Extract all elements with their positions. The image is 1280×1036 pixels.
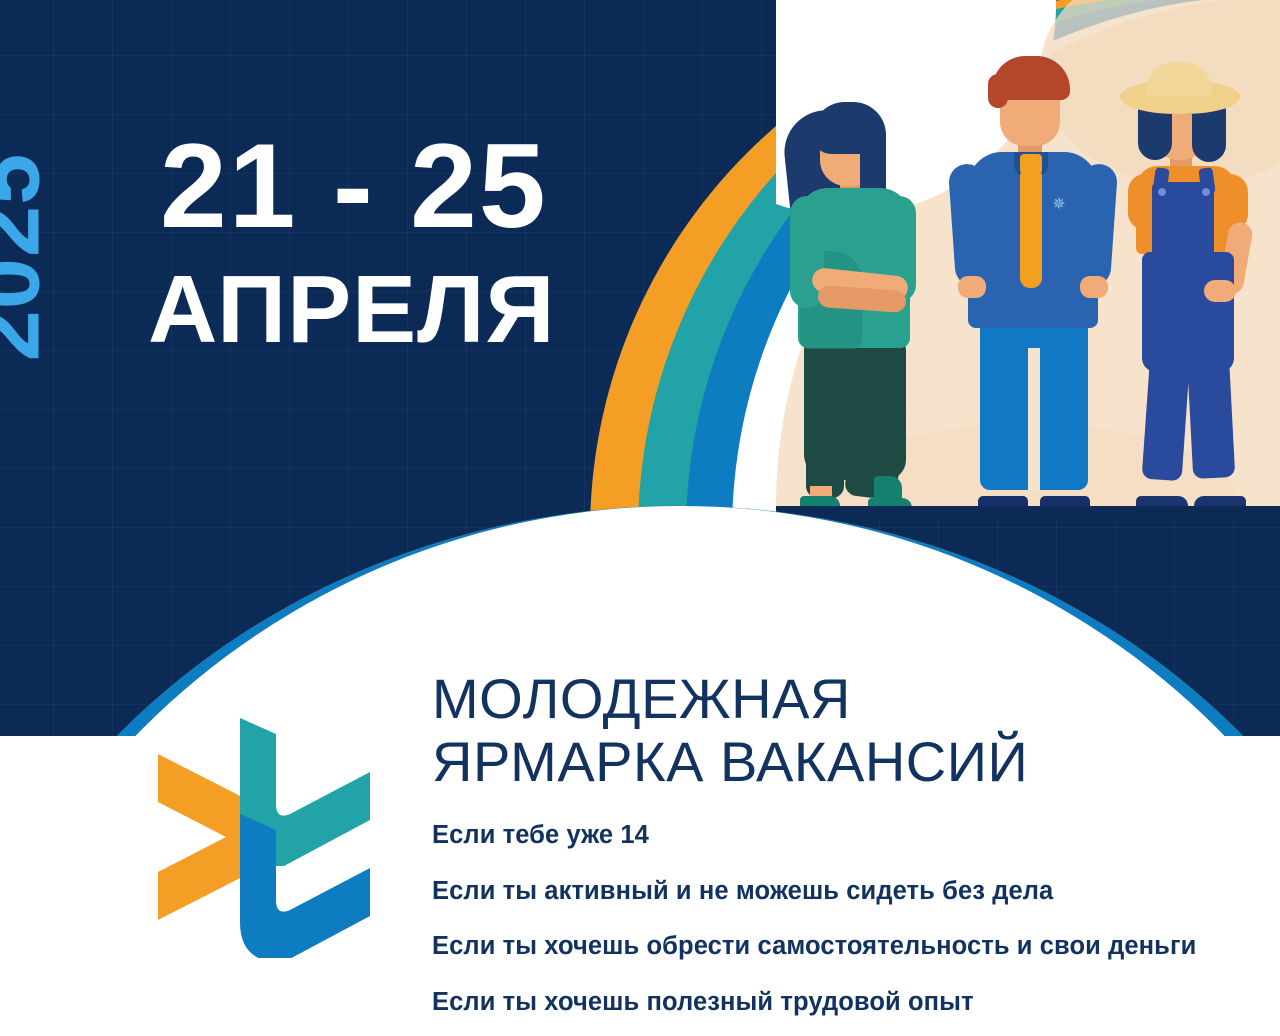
page-title: МОЛОДЕЖНАЯ ЯРМАРКА ВАКАНСИЙ	[432, 668, 1262, 793]
poster-copy: МОЛОДЕЖНАЯ ЯРМАРКА ВАКАНСИЙ Если тебе уж…	[432, 668, 1262, 1015]
list-item: Если ты хочешь полезный трудовой опыт	[432, 990, 1262, 1016]
date-range-label: 21 - 25	[160, 126, 548, 246]
figure-woman-straw-hat	[1106, 56, 1272, 514]
year-rotated-wrapper: 2025	[52, 360, 53, 361]
overalls-button-right	[1202, 188, 1210, 196]
hair-sideburn-shape	[988, 74, 1008, 108]
straw-hat-crown	[1146, 62, 1212, 96]
leg-gap-shape	[1028, 348, 1040, 490]
list-item: Если ты активный и не можешь сидеть без …	[432, 879, 1262, 905]
heel-shape	[874, 476, 902, 500]
overalls-button-left	[1158, 188, 1166, 196]
hand-left-shape	[958, 276, 986, 298]
hand-right-shape	[1204, 280, 1236, 302]
leg-left-shape	[806, 406, 844, 498]
figure-woman-teal-top	[784, 76, 944, 514]
pinwheel-logo-svg	[148, 716, 380, 958]
three-young-people-illustration: ✵	[776, 36, 1280, 514]
bullet-list: Если тебе уже 14 Если ты активный и не м…	[432, 823, 1262, 1015]
overalls-lower-shape	[1142, 252, 1234, 372]
list-item: Если тебе уже 14	[432, 823, 1262, 849]
logo-orange-chevron	[158, 754, 252, 920]
pinwheel-logo	[148, 716, 380, 958]
tie-knot-shape	[1020, 154, 1042, 174]
hand-right-shape	[1080, 276, 1108, 298]
figure-man-blue-jacket: ✵	[944, 48, 1124, 514]
poster-root: ✵	[0, 0, 1280, 1036]
star-pin-icon: ✵	[1052, 198, 1066, 212]
title-line-1: МОЛОДЕЖНАЯ	[432, 667, 851, 730]
top-rainbow-arc: ✵	[590, 0, 1280, 520]
list-item: Если ты хочешь обрести самостоятельность…	[432, 934, 1262, 960]
year-label: 2025	[0, 152, 52, 361]
tie-shape	[1020, 172, 1042, 288]
date-month-label: АПРЕЛЯ	[148, 262, 555, 358]
title-line-2: ЯРМАРКА ВАКАНСИЙ	[432, 731, 1262, 794]
